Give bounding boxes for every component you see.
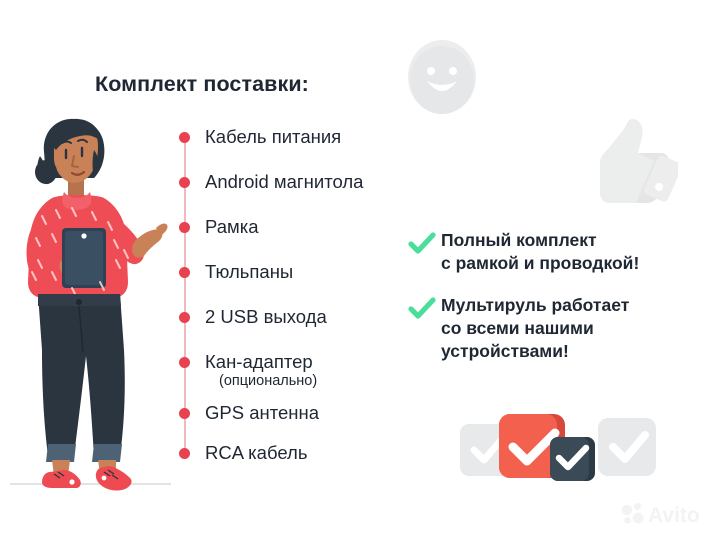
- list-item-label: Кабель питания: [205, 124, 341, 150]
- list-item-label: GPS антенна: [205, 400, 319, 426]
- list-item-label: Android магнитола: [205, 169, 363, 195]
- green-check-icon: [408, 230, 436, 258]
- checkbox-card-navy: [550, 437, 595, 481]
- bullet-dot-icon: [179, 177, 190, 188]
- benefit-item-multiwheel: Мультируль работает со всеми нашими устр…: [408, 294, 629, 363]
- checkbox-cards-icon: [458, 406, 658, 494]
- benefit-line-2: с рамкой и проводкой!: [441, 253, 639, 273]
- bullet-dot-icon: [179, 267, 190, 278]
- benefit-line-1: Мультируль работает: [441, 295, 629, 315]
- green-check-icon: [408, 295, 436, 323]
- list-item-label: Рамка: [205, 214, 259, 240]
- bullet-dot-icon: [179, 312, 190, 323]
- avito-watermark-label: Avito: [648, 504, 700, 527]
- benefit-item-full-kit: Полный комплект с рамкой и проводкой!: [408, 229, 639, 275]
- benefit-line-3: устройствами!: [441, 341, 569, 361]
- bullet-dot-icon: [179, 222, 190, 233]
- bullet-dot-icon: [179, 132, 190, 143]
- list-item-label: 2 USB выхода: [205, 304, 327, 330]
- list-item-label: RCA кабель: [205, 440, 307, 466]
- thumbs-up-icon: [580, 115, 678, 211]
- avito-watermark: Avito: [620, 500, 712, 528]
- benefit-text: Полный комплект с рамкой и проводкой!: [441, 229, 639, 275]
- benefit-line-1: Полный комплект: [441, 230, 597, 250]
- smiley-face-icon: [404, 37, 480, 117]
- bullet-dot-icon: [179, 357, 190, 368]
- bullet-dot-icon: [179, 448, 190, 459]
- page-title: Комплект поставки:: [95, 72, 309, 97]
- list-item-sublabel: (опционально): [219, 371, 317, 391]
- checkbox-card-gray-right: [598, 418, 656, 476]
- ad-banner-canvas: Комплект поставки: Кабель питания Androi…: [0, 0, 720, 540]
- benefit-text: Мультируль работает со всеми нашими устр…: [441, 294, 629, 363]
- list-item-label: Тюльпаны: [205, 259, 293, 285]
- bullet-dot-icon: [179, 408, 190, 419]
- benefit-line-2: со всеми нашими: [441, 318, 594, 338]
- woman-pointing-illustration: [8, 112, 173, 510]
